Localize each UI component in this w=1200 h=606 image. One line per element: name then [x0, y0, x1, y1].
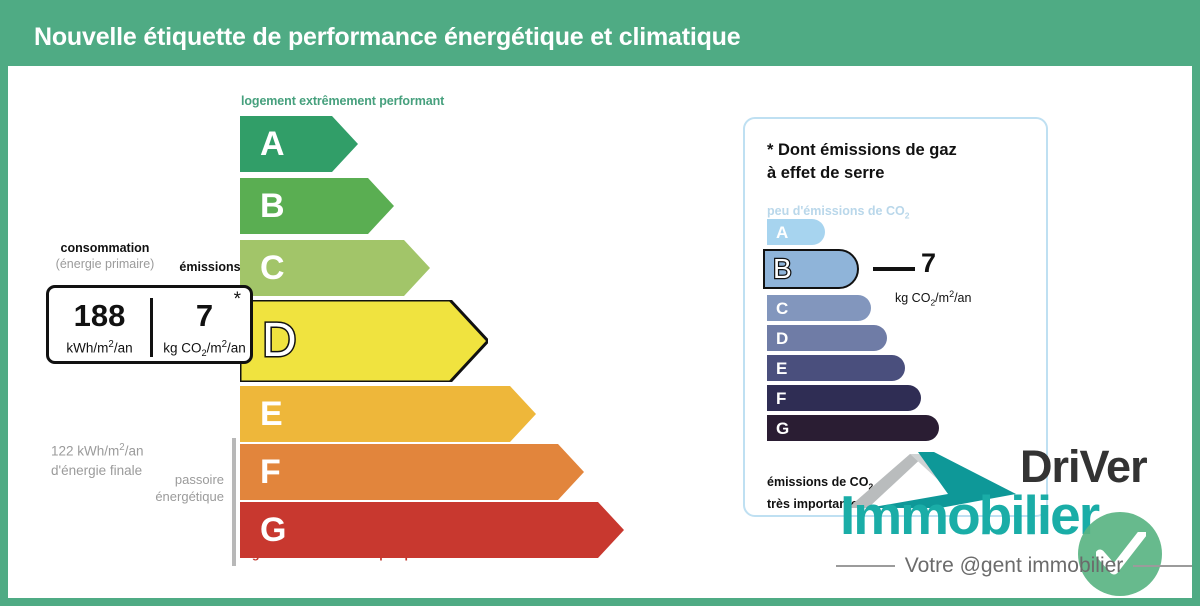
energy-bar-letter-a: A — [240, 127, 285, 161]
energy-bar-a: A — [240, 116, 358, 172]
passoire-label-line1: passoire — [175, 472, 224, 487]
ges-bar-shape-e: E — [767, 355, 905, 381]
energy-bar-letter-b: B — [240, 189, 285, 223]
energy-unit-suffix: /an — [114, 341, 133, 356]
final-energy-note: 122 kWh/m2/an d'énergie finale — [51, 438, 143, 480]
ges-bar-letter-g: G — [767, 420, 789, 437]
ges-bar-shape-b: B — [763, 249, 859, 289]
ges-bar-a: A — [767, 219, 825, 245]
energy-bar-e: E — [240, 386, 536, 442]
ges-unit-prefix: kg CO — [895, 291, 930, 305]
energy-bar-g: G — [240, 502, 624, 558]
ges-bar-shape-a: A — [767, 219, 825, 245]
energy-bar-f: F — [240, 444, 584, 500]
dpe-label-card: Nouvelle étiquette de performance énergé… — [0, 0, 1200, 606]
energy-bar-letter-e: E — [240, 397, 283, 431]
ges-bar-letter-c: C — [767, 300, 788, 317]
energy-value-cell: 188 kWh/m2/an — [49, 288, 150, 361]
ges-bar-shape-f: F — [767, 385, 921, 411]
ges-caption-top-prefix: peu d'émissions de CO — [767, 204, 905, 218]
ges-bar-shape-c: C — [767, 295, 871, 321]
ges-bar-c: C — [767, 295, 871, 321]
bar-shape-f — [240, 444, 584, 500]
energy-bar-letter-f: F — [240, 455, 281, 489]
final-energy-unit-prefix: kWh/m — [74, 444, 120, 459]
bar-shape-e — [240, 386, 536, 442]
ges-value-unit: kg CO2/m2/an — [895, 289, 971, 308]
ges-title: * Dont émissions de gaz à effet de serre — [767, 139, 957, 185]
final-energy-line2: d'énergie finale — [51, 463, 142, 478]
passoire-bracket — [232, 438, 236, 566]
ges-bar-letter-f: F — [767, 390, 786, 407]
energy-bar-letter-c: C — [240, 251, 285, 285]
co2-unit-mid: /m — [207, 341, 222, 356]
energy-unit: kWh/m2/an — [49, 340, 150, 355]
energy-bar-b: B — [240, 178, 394, 234]
content-canvas: logement extrêmement performant logement… — [8, 66, 1192, 598]
final-energy-unit-suffix: /an — [125, 444, 144, 459]
co2-value-cell: 7 kg CO2/m2/an — [153, 288, 256, 361]
page-title: Nouvelle étiquette de performance énergé… — [8, 23, 740, 52]
agency-logo[interactable]: DriVer Immobilier Votre @gent immobilier — [836, 436, 1192, 596]
logo-tagline: Votre @gent immobilier — [905, 554, 1124, 578]
energy-unit-prefix: kWh/m — [66, 341, 108, 356]
ges-bar-shape-d: D — [767, 325, 887, 351]
ges-title-line2: à effet de serre — [767, 164, 884, 182]
bar-shape-g — [240, 502, 624, 558]
ges-bar-letter-d: D — [767, 330, 788, 347]
header-bar: Nouvelle étiquette de performance énergé… — [8, 8, 1192, 66]
consumption-heading-line2: (énergie primaire) — [46, 257, 164, 271]
scale-caption-top: logement extrêmement performant — [241, 94, 444, 108]
tagline-rule-left — [836, 565, 895, 567]
ges-bar-letter-e: E — [767, 360, 787, 377]
logo-name-driver: DriVer — [1020, 444, 1147, 489]
consumption-heading-line1: consommation — [46, 241, 164, 255]
passoire-label-line2: énergétique — [155, 489, 224, 504]
co2-unit-prefix: kg CO — [163, 341, 201, 356]
ges-caption-top-sub: 2 — [905, 211, 910, 221]
consumption-headings: consommation (énergie primaire) émission… — [46, 241, 256, 281]
ges-bar-b: B — [763, 249, 859, 289]
tagline-rule-right — [1133, 565, 1192, 567]
energy-value: 188 — [49, 300, 150, 331]
final-energy-value: 122 — [51, 444, 74, 459]
ges-bar-f: F — [767, 385, 921, 411]
energy-bar-c: C — [240, 240, 430, 296]
ges-unit-suffix: /an — [954, 291, 971, 305]
logo-name-immobilier: Immobilier — [840, 488, 1098, 543]
co2-unit: kg CO2/m2/an — [153, 340, 256, 358]
ges-unit-mid: /m — [935, 291, 949, 305]
consumption-heading: consommation (énergie primaire) — [46, 241, 164, 271]
co2-unit-suffix: /an — [227, 341, 246, 356]
ges-value: 7 — [921, 250, 936, 277]
co2-value: 7 — [153, 300, 256, 331]
ges-bar-letter-b: B — [765, 255, 792, 283]
logo-tagline-row: Votre @gent immobilier — [836, 554, 1192, 578]
ges-title-line1: * Dont émissions de gaz — [767, 141, 957, 159]
ges-bar-d: D — [767, 325, 887, 351]
consumption-value-box: * 188 kWh/m2/an 7 kg CO2/m2/an — [46, 285, 253, 364]
ges-leader-line — [873, 267, 915, 271]
energy-scale-chart: logement extrêmement performant logement… — [8, 66, 708, 598]
energy-bar-letter-g: G — [240, 513, 286, 547]
ges-bar-letter-a: A — [767, 224, 788, 241]
ges-bar-e: E — [767, 355, 905, 381]
energy-bar-d: D — [240, 300, 488, 382]
